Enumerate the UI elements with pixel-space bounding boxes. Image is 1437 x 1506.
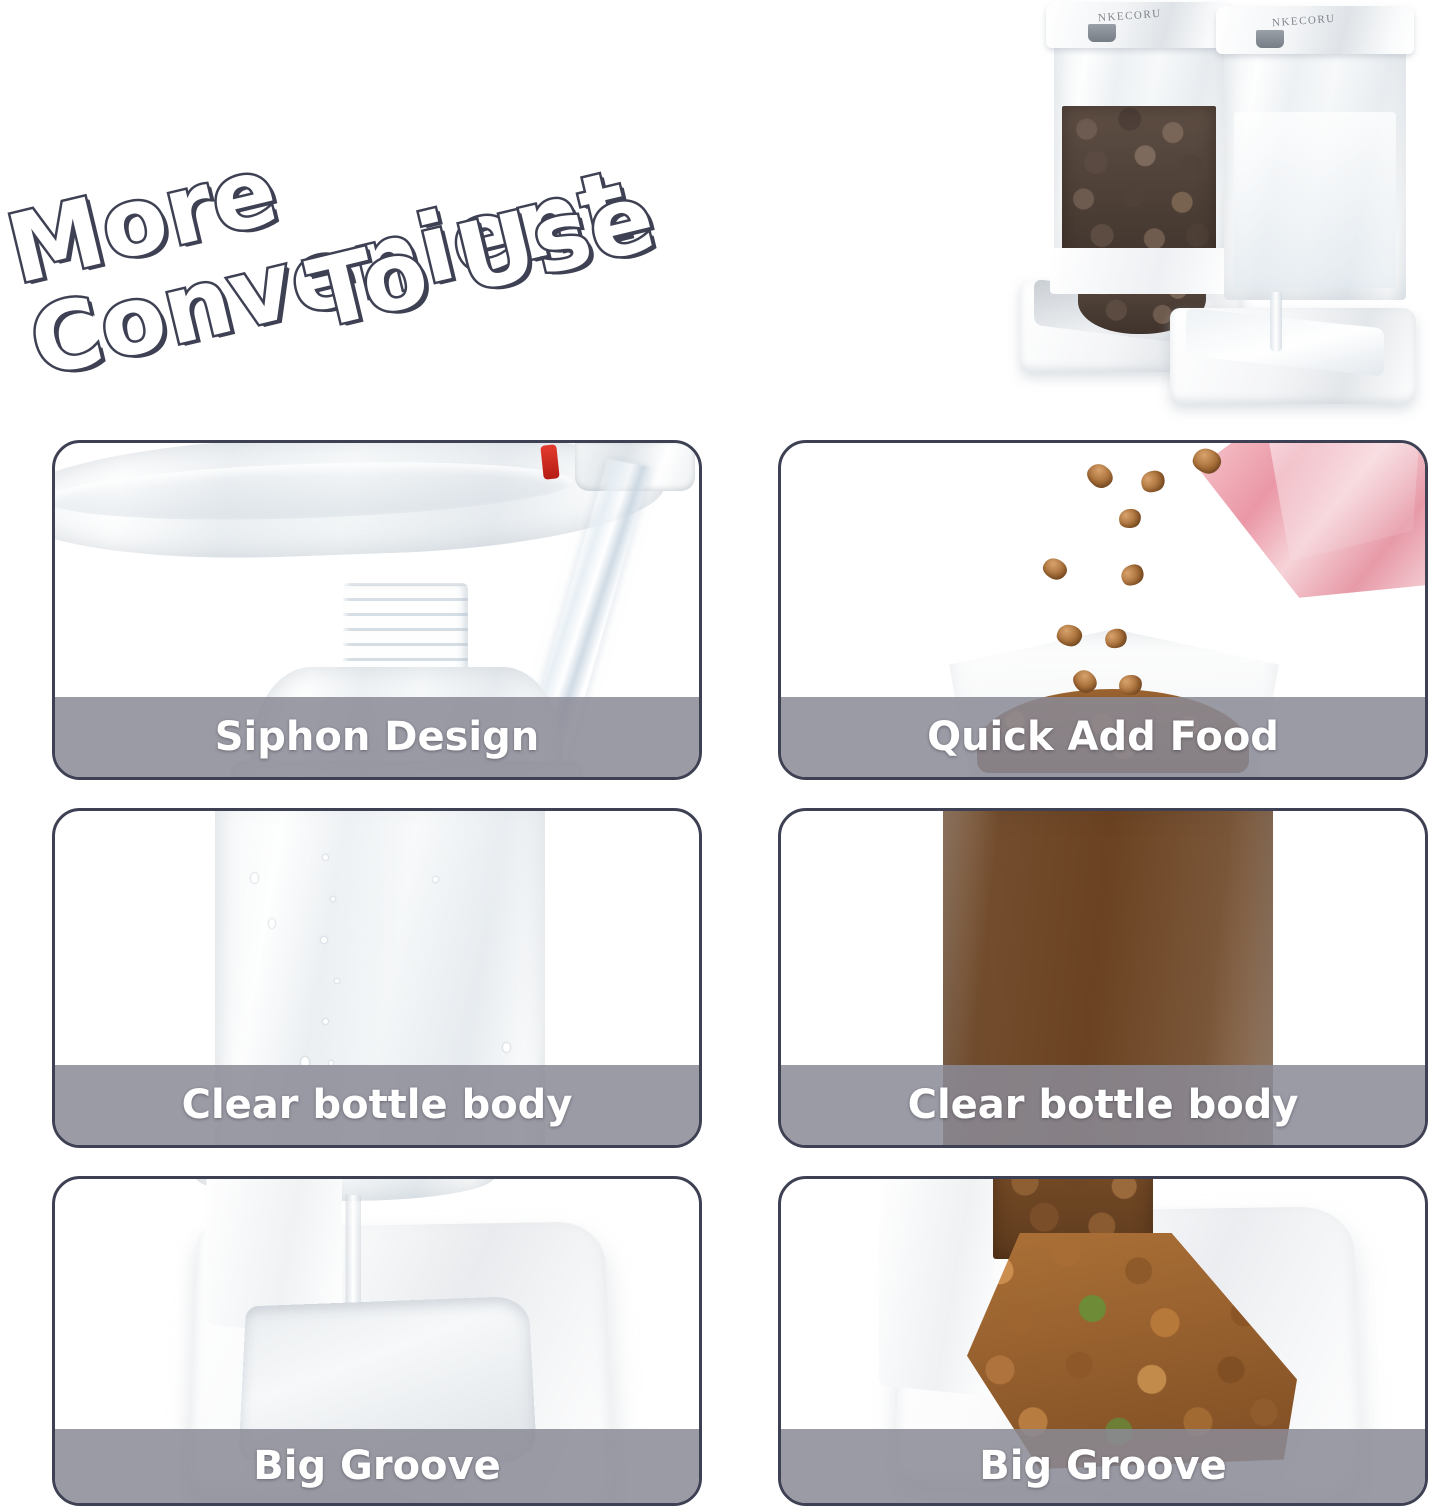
- reservoir-neck-threads: [343, 583, 468, 675]
- caption-bar-big-groove-water: Big Groove: [55, 1429, 699, 1503]
- headline-line-1: More Convenient: [0, 0, 931, 393]
- caption-label: Clear bottle body: [908, 1082, 1299, 1128]
- water-tank-fill: [1234, 112, 1396, 288]
- falling-kibble: [1083, 459, 1117, 492]
- caption-label: Siphon Design: [215, 714, 539, 760]
- water-droplet: [335, 979, 339, 983]
- water-lid-latch: [1256, 30, 1284, 48]
- feature-panel-siphon-design: Siphon Design: [52, 440, 702, 780]
- caption-label: Quick Add Food: [927, 714, 1279, 760]
- hero-water-dispenser: NKECORU: [1208, 6, 1437, 416]
- water-droplet: [251, 873, 258, 883]
- water-droplet: [331, 897, 335, 901]
- falling-kibble: [1040, 555, 1070, 583]
- caption-label: Big Groove: [979, 1443, 1226, 1489]
- water-droplet: [433, 877, 438, 882]
- water-droplet: [269, 919, 275, 928]
- feature-panel-quick-add-food: Quick Add Food: [778, 440, 1428, 780]
- caption-bar-big-groove-food: Big Groove: [781, 1429, 1425, 1503]
- feature-panel-clear-bottle-water: Clear bottle body: [52, 808, 702, 1148]
- falling-kibble: [1118, 561, 1148, 590]
- water-droplet: [503, 1043, 510, 1052]
- hero-product-image: NKECORU NKECORU: [918, 0, 1437, 420]
- caption-bar-clear-bottle-water: Clear bottle body: [55, 1065, 699, 1145]
- water-droplet: [321, 937, 327, 943]
- water-spout: [1270, 292, 1282, 352]
- headline-line-2: To Use: [301, 169, 665, 344]
- headline-banner: More Convenient To Use: [0, 0, 951, 479]
- caption-label: Big Groove: [253, 1443, 500, 1489]
- caption-bar-quick-add-food: Quick Add Food: [781, 697, 1425, 777]
- water-droplet: [323, 855, 328, 860]
- caption-label: Clear bottle body: [182, 1082, 573, 1128]
- food-chute: [1050, 248, 1230, 294]
- caption-bar-siphon-design: Siphon Design: [55, 697, 699, 777]
- feature-panel-clear-bottle-food: Clear bottle body: [778, 808, 1428, 1148]
- bottle-label-accent: [540, 444, 559, 479]
- feature-panel-grid: Siphon Design Quick Add Food: [52, 440, 1428, 1482]
- falling-kibble: [1138, 467, 1168, 495]
- caption-bar-clear-bottle-food: Clear bottle body: [781, 1065, 1425, 1145]
- falling-kibble: [1118, 507, 1143, 530]
- water-droplet: [323, 1019, 328, 1024]
- food-lid-latch: [1088, 24, 1116, 42]
- feature-panel-big-groove-water: Big Groove: [52, 1176, 702, 1506]
- feature-panel-big-groove-food: Big Groove: [778, 1176, 1428, 1506]
